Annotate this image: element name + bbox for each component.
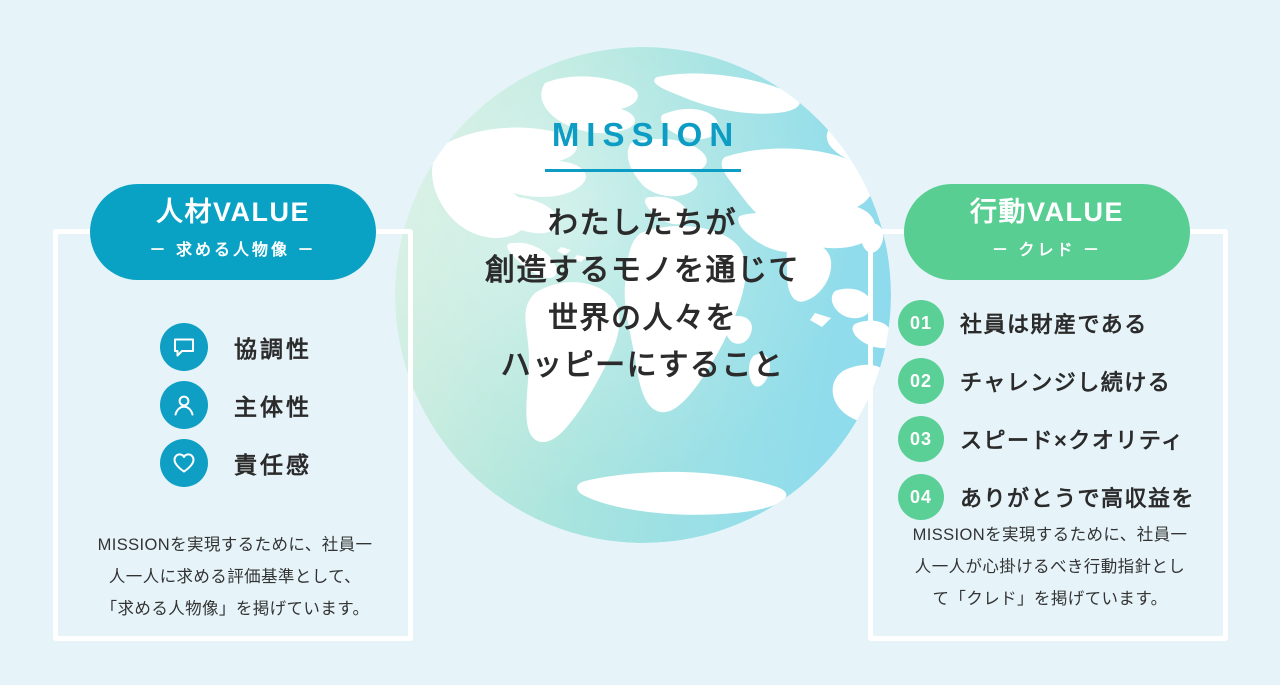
mission-line-1: わたしたちが [430, 200, 855, 247]
credo-number-badge: 03 [898, 416, 944, 462]
mission-heading: MISSION [430, 118, 855, 151]
footnote-line: MISSIONを実現するために、社員一 [70, 529, 400, 561]
mission-line-4: ハッピーにすること [430, 342, 855, 389]
credo-item-04: 04 ありがとうで高収益を [898, 468, 1195, 526]
action-value-title: 行動VALUE [904, 196, 1190, 230]
value-label: 協調性 [234, 330, 312, 364]
credo-number-badge: 02 [898, 358, 944, 404]
credo-item-03: 03 スピード×クオリティ [898, 410, 1195, 468]
credo-label: 社員は財産である [960, 307, 1148, 339]
human-value-footnote: MISSIONを実現するために、社員一 人一人に求める評価基準として、 「求める… [70, 529, 400, 626]
mission-statement: わたしたちが 創造するモノを通じて 世界の人々を ハッピーにすること [430, 200, 855, 390]
footnote-line: て「クレド」を掲げています。 [885, 583, 1215, 615]
credo-label: チャレンジし続ける [960, 365, 1171, 397]
credo-label: スピード×クオリティ [960, 423, 1185, 455]
credo-item-01: 01 社員は財産である [898, 294, 1195, 352]
footnote-line: 人一人に求める評価基準として、 [70, 561, 400, 593]
value-item-responsibility: 責任感 [160, 434, 312, 492]
footnote-line: MISSIONを実現するために、社員一 [885, 519, 1215, 551]
value-item-initiative: 主体性 [160, 376, 312, 434]
credo-number-badge: 04 [898, 474, 944, 520]
mission-value-infographic: MISSION わたしたちが 創造するモノを通じて 世界の人々を ハッピーにする… [0, 0, 1280, 685]
mission-line-2: 創造するモノを通じて [430, 247, 855, 294]
value-label: 主体性 [234, 388, 312, 422]
action-value-subtitle: － クレド － [904, 236, 1190, 260]
mission-underline [545, 169, 741, 172]
action-value-pill: 行動VALUE － クレド － [904, 184, 1190, 280]
human-value-title: 人材VALUE [90, 196, 376, 230]
value-item-cooperation: 協調性 [160, 318, 312, 376]
credo-list: 01 社員は財産である 02 チャレンジし続ける 03 スピード×クオリティ 0… [898, 294, 1195, 526]
human-value-list: 協調性 主体性 責任感 [160, 318, 312, 492]
mission-line-3: 世界の人々を [430, 295, 855, 342]
mission-block: MISSION わたしたちが 創造するモノを通じて 世界の人々を ハッピーにする… [430, 118, 855, 390]
value-label: 責任感 [234, 446, 312, 480]
heart-icon [160, 439, 208, 487]
credo-number-badge: 01 [898, 300, 944, 346]
credo-label: ありがとうで高収益を [960, 481, 1195, 513]
human-value-subtitle: － 求める人物像 － [90, 236, 376, 260]
action-value-footnote: MISSIONを実現するために、社員一 人一人が心掛けるべき行動指針とし て「ク… [885, 519, 1215, 616]
footnote-line: 「求める人物像」を掲げています。 [70, 593, 400, 625]
footnote-line: 人一人が心掛けるべき行動指針とし [885, 551, 1215, 583]
person-icon [160, 381, 208, 429]
credo-item-02: 02 チャレンジし続ける [898, 352, 1195, 410]
speech-bubble-icon [160, 323, 208, 371]
human-value-pill: 人材VALUE － 求める人物像 － [90, 184, 376, 280]
